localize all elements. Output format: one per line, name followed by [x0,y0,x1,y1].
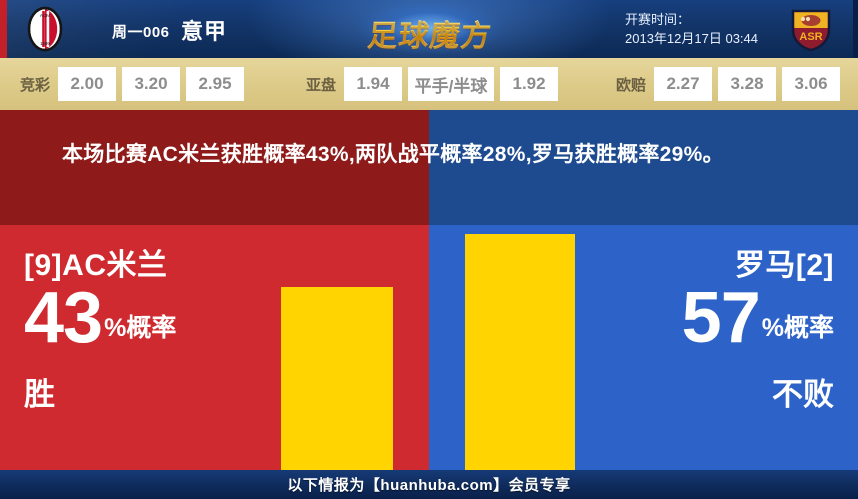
svg-text:ACM: ACM [40,13,50,18]
home-percent-value: 43 [24,278,102,358]
kickoff-info: 开赛时间： 2013年12月17日 03:44 [625,10,758,48]
svg-text:ASR: ASR [799,31,822,43]
away-percent-row: 57%概率 [682,285,834,371]
logo-text: 足球魔方 [347,11,514,55]
odds-cell-home[interactable]: 1.94 [344,67,402,101]
odds-cell-away[interactable]: 1.92 [500,67,558,101]
as-roma-crest-icon: ASR [788,6,834,52]
summary-text: 本场比赛AC米兰获胜概率43%,两队战平概率28%,罗马获胜概率29%。 [0,110,858,225]
odds-cell-away[interactable]: 2.95 [186,67,244,101]
home-team-block: [9]AC米兰 43%概率 胜 [24,249,176,415]
odds-group-jingcai: 竞彩 2.00 3.20 2.95 [12,67,250,101]
league-name: 意甲 [181,19,227,44]
footer-bar: 以下情报为【huanhuba.com】会员专享 [0,470,858,499]
odds-cell-draw[interactable]: 3.28 [718,67,776,101]
home-probability-bar [281,287,393,470]
odds-cell-home[interactable]: 2.27 [654,67,712,101]
kickoff-value: 2013年12月17日 03:44 [625,29,758,48]
odds-group-oupei: 欧赔 2.27 3.28 3.06 [608,67,846,101]
footer-text: 以下情报为【huanhuba.com】会员专享 [287,474,570,495]
header-right-accent [853,0,858,58]
odds-bar: 竞彩 2.00 3.20 2.95 亚盘 1.94 平手/半球 1.92 欧赔 … [0,58,858,110]
match-probability-infographic: ACM 1899 ASR 周一006 意甲 足球魔方 开赛时间： 2013年12… [0,0,858,499]
away-team-block: 罗马[2] 57%概率 不败 [682,249,834,415]
home-outcome-label: 胜 [24,375,176,415]
odds-cell-home[interactable]: 2.00 [58,67,116,101]
site-logo[interactable]: 足球魔方 [349,4,511,54]
header-left-accent [0,0,7,58]
home-percent-suffix: %概率 [104,314,176,342]
odds-cell-draw[interactable]: 3.20 [122,67,180,101]
odds-group-yapan: 亚盘 1.94 平手/半球 1.92 [298,67,564,101]
match-meta: 周一006 意甲 [112,14,227,46]
ac-milan-crest-icon: ACM 1899 [22,6,68,52]
odds-group-label: 欧赔 [616,74,646,95]
odds-cell-away[interactable]: 3.06 [782,67,840,101]
kickoff-label: 开赛时间： [625,10,758,29]
probability-panels: [9]AC米兰 43%概率 胜 罗马[2] 57%概率 不败 [0,225,858,470]
odds-group-label: 亚盘 [306,74,336,95]
home-percent-row: 43%概率 [24,285,176,371]
odds-group-label: 竞彩 [20,74,50,95]
summary-band: 本场比赛AC米兰获胜概率43%,两队战平概率28%,罗马获胜概率29%。 [0,110,858,225]
odds-cell-handicap[interactable]: 平手/半球 [408,67,494,101]
away-outcome-label: 不败 [682,375,834,415]
away-percent-suffix: %概率 [762,314,834,342]
match-number: 周一006 [112,24,170,41]
away-probability-bar [465,234,575,470]
header-bar: ACM 1899 ASR 周一006 意甲 足球魔方 开赛时间： 2013年12… [0,0,858,58]
svg-text:1899: 1899 [40,41,50,46]
away-percent-value: 57 [682,278,760,358]
